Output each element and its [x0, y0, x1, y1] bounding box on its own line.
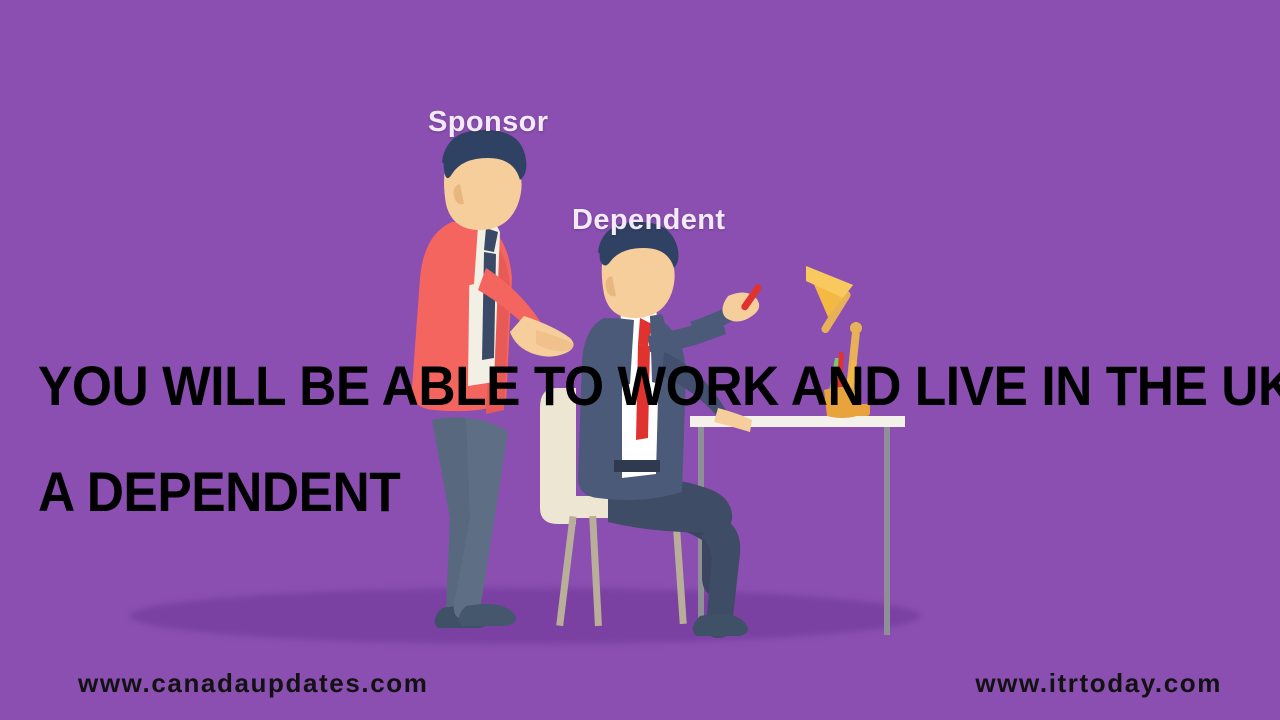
promotional-banner: Sponsor Dependent YOU WILL BE ABLE TO WO… — [0, 0, 1280, 720]
headline: YOU WILL BE ABLE TO WORK AND LIVE IN THE… — [38, 333, 1142, 545]
footer-url-left[interactable]: www.canadaupdates.com — [78, 668, 429, 699]
headline-line-1: YOU WILL BE ABLE TO WORK AND LIVE IN THE… — [38, 333, 1142, 439]
label-sponsor: Sponsor — [428, 106, 548, 139]
headline-line-2: A DEPENDENT — [38, 439, 1142, 545]
footer-url-right[interactable]: www.itrtoday.com — [975, 668, 1222, 699]
label-dependent: Dependent — [572, 204, 725, 237]
